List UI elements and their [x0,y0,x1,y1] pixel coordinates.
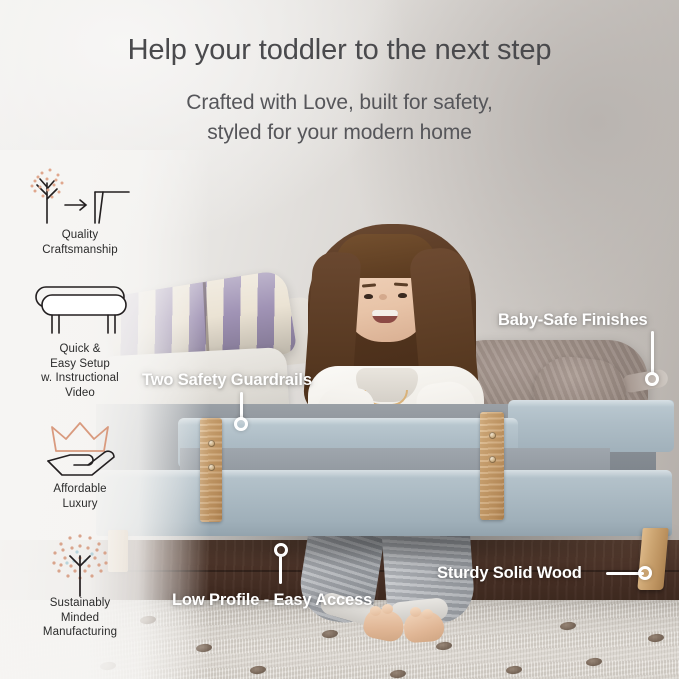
bed-frame-icon [0,278,160,342]
feature-affordable-luxury: Affordable Luxury [0,418,160,511]
feature-label-line: Manufacturing [6,625,154,640]
hand-holding-crown-icon [0,418,160,482]
callout-baby-safe-finishes-marker [645,372,659,386]
bed-leg-right [637,528,668,590]
toe [422,609,433,619]
feature-quick-easy-setup: Quick & Easy Setup w. Instructional Vide… [0,278,160,400]
slat-grain [480,412,504,520]
feature-label-line: Quality [6,228,154,243]
feature-label-line: Craftsmanship [6,243,154,258]
page-headline: Help your toddler to the next step [0,34,679,67]
feature-label-line: Video [6,386,154,401]
feature-label-line: Sustainably [6,596,154,611]
eye [364,294,373,299]
subheadline-line-1: Crafted with Love, built for safety, [0,88,679,118]
eyebrow [362,283,376,287]
feature-quality-craftsmanship: Quality Craftsmanship [0,164,160,257]
callout-low-profile-line [279,556,282,584]
guardrail-right [508,400,674,452]
toe [382,604,393,614]
feature-label: Sustainably Minded Manufacturing [0,596,160,640]
callout-two-safety-guardrails-line [240,392,243,420]
feature-label-line: Minded [6,611,154,626]
wood-slat [480,412,504,520]
feature-label: Affordable Luxury [0,482,160,511]
feature-label-line: Quick & [6,342,154,357]
dotted-tree-icon [0,532,160,596]
rail-highlight [508,400,674,407]
feature-label-line: Luxury [6,497,154,512]
subheadline-line-2: styled for your modern home [0,118,679,148]
callout-low-profile-marker [274,543,288,557]
feature-label-line: Affordable [6,482,154,497]
page-subheadline: Crafted with Love, built for safety, sty… [0,88,679,148]
callout-two-safety-guardrails-marker [234,417,248,431]
eye [398,293,407,298]
callout-baby-safe-finishes-label: Baby-Safe Finishes [498,311,648,330]
callout-two-safety-guardrails-label: Two Safety Guardrails [142,371,312,390]
slat-screw [489,432,496,439]
product-feature-image: Help your toddler to the next step Craft… [0,0,679,679]
feature-sustainably-minded: Sustainably Minded Manufacturing [0,532,160,640]
slat-screw [489,456,496,463]
toe [410,607,421,617]
feature-label: Quality Craftsmanship [0,228,160,257]
callout-sturdy-solid-wood-label: Sturdy Solid Wood [437,564,582,583]
nose [379,294,387,300]
feature-label: Quick & Easy Setup w. Instructional Vide… [0,342,160,400]
eyebrow [394,283,408,287]
callout-sturdy-solid-wood-marker [638,566,652,580]
callout-baby-safe-finishes-line [651,331,654,375]
teeth [372,310,398,316]
feature-label-line: Easy Setup [6,357,154,372]
rail-highlight [178,418,518,425]
callout-low-profile-label: Low Profile - Easy Access [172,591,372,610]
tree-to-furniture-icon [0,164,160,228]
feature-label-line: w. Instructional [6,371,154,386]
